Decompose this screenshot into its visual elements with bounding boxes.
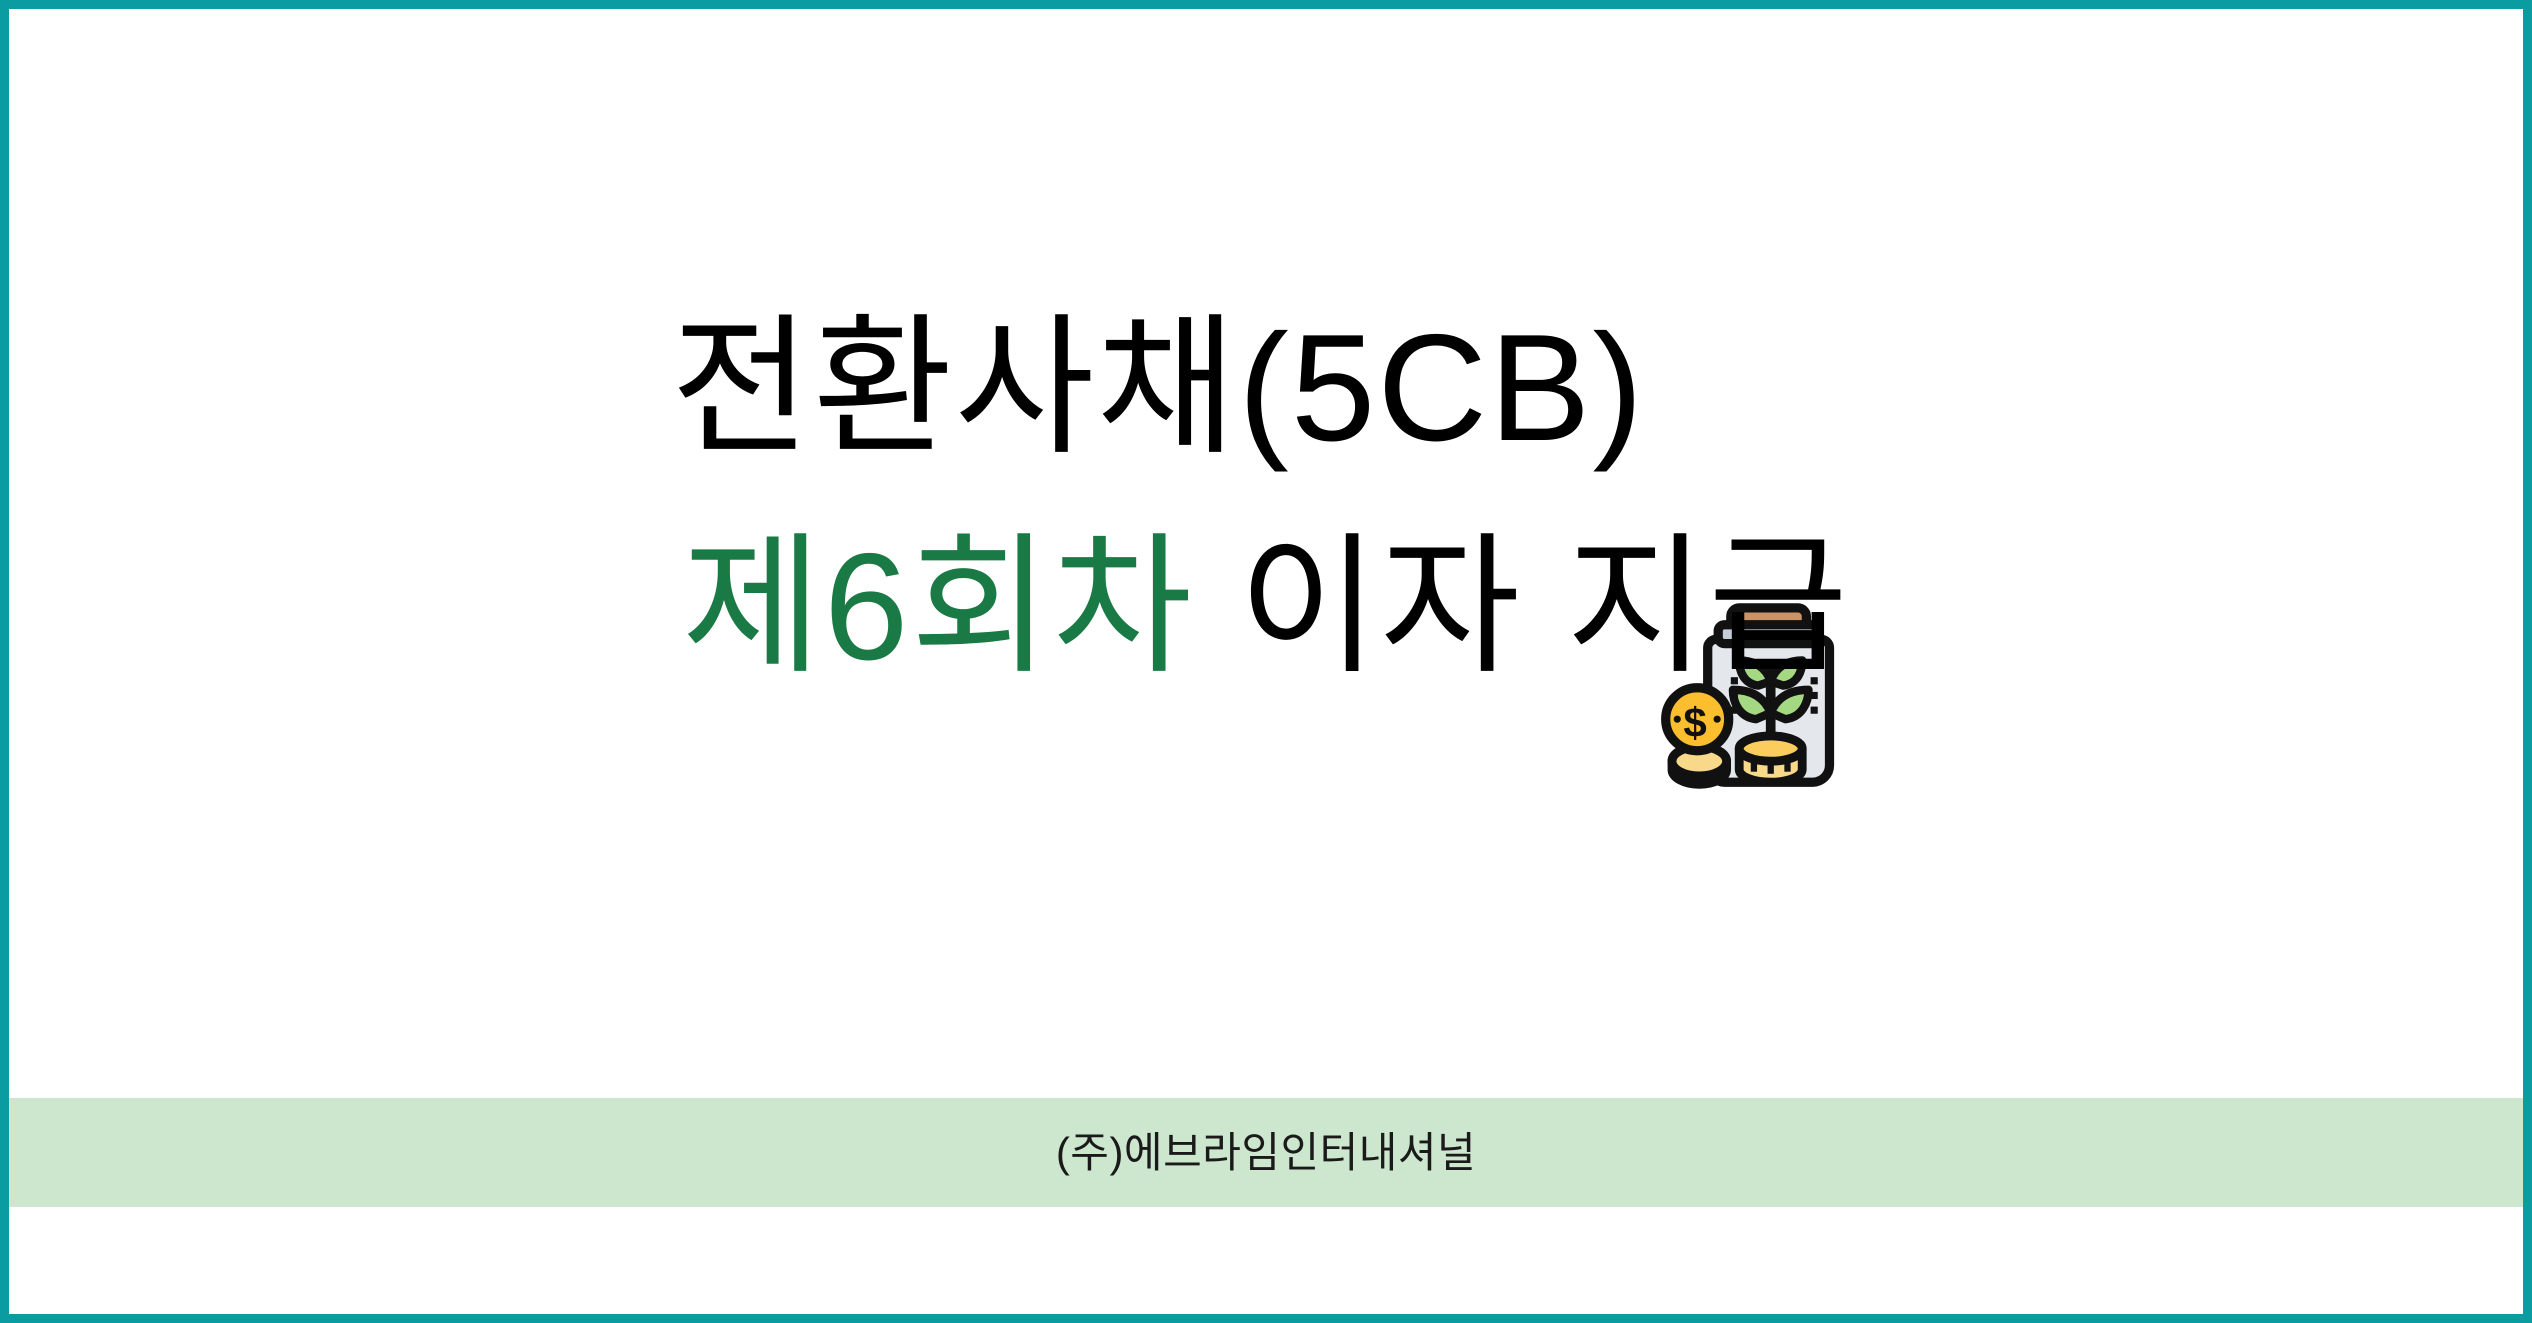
title-line-2-highlight: 제6회차: [682, 531, 1194, 683]
headline-block: 전환사채(5CB): [9, 285, 2523, 683]
svg-text:$: $: [1684, 699, 1712, 746]
title-line-1-text: 전환사채(5CB): [671, 312, 1645, 464]
footer-company-name: (주)에브라임인터내셔널: [1056, 1132, 1476, 1174]
money-jar-icon: $: [1651, 285, 1861, 495]
title-line-2: 제6회차 이자 지급: [682, 531, 1850, 683]
title-line-2-rest: 이자 지급: [1194, 531, 1850, 683]
footer-band: (주)에브라임인터내셔널: [9, 1098, 2523, 1207]
title-line-1: 전환사채(5CB): [671, 285, 1861, 491]
slide-canvas: 전환사채(5CB): [0, 0, 2532, 1323]
